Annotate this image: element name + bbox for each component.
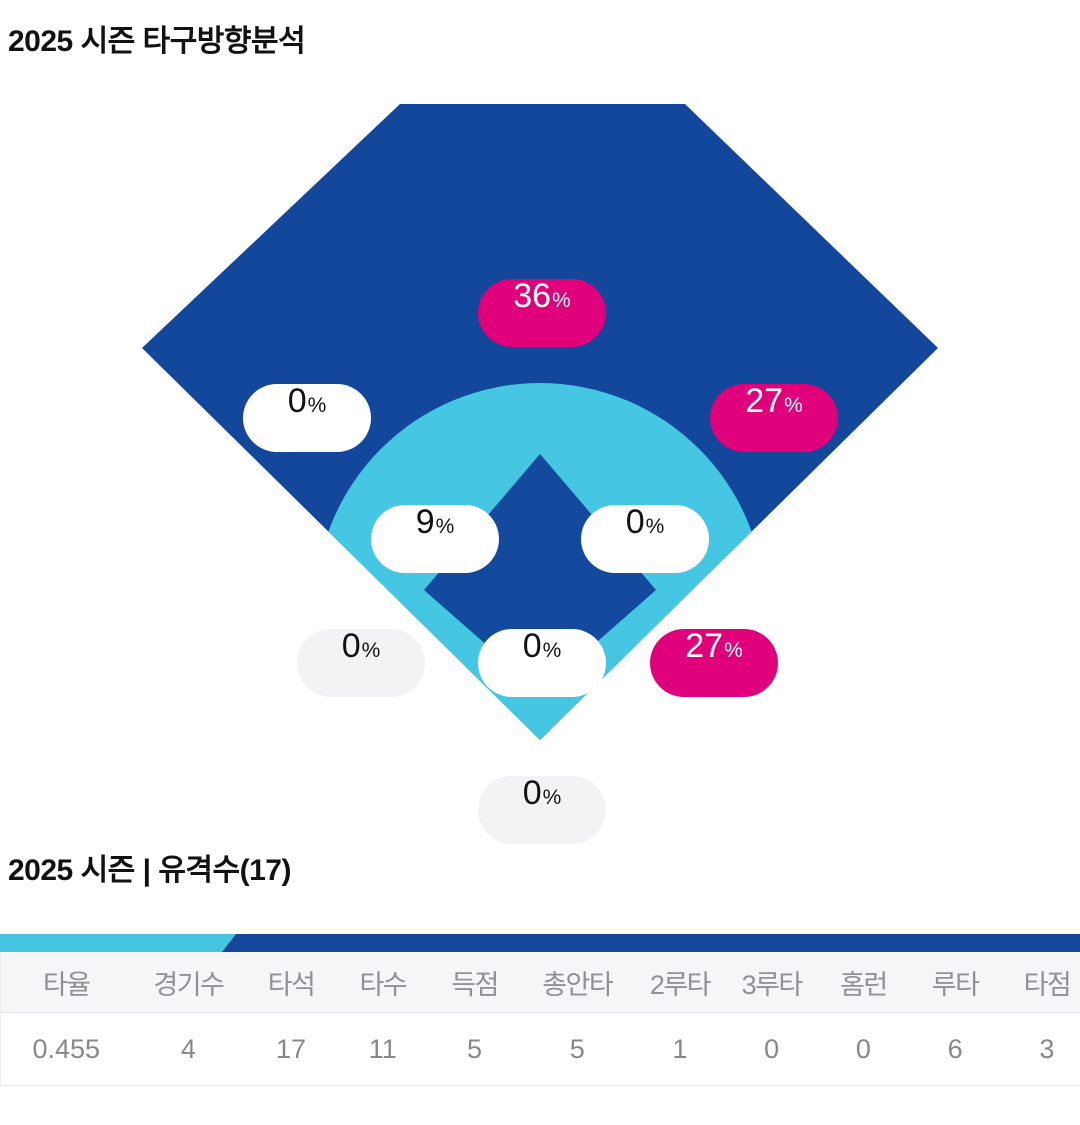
zone-value-right-field: 27 [745, 384, 783, 418]
zone-unit-left-infield: % [362, 640, 381, 661]
stats-cell: 4 [132, 1013, 246, 1086]
zone-badge-third-base[interactable]: 9% [371, 505, 499, 573]
stats-cell: 0 [818, 1013, 910, 1086]
page-title: 2025 시즌 타구방향분석 [8, 16, 305, 60]
stats-cell: 6 [909, 1013, 1001, 1086]
stats-cell: 0 [726, 1013, 818, 1086]
stats-header-cell[interactable]: 타석 [245, 952, 337, 1013]
stats-header-cell[interactable]: 2루타 [634, 952, 726, 1013]
zone-unit-left-field: % [308, 395, 327, 416]
stats-header-cell[interactable]: 루타 [909, 952, 1001, 1013]
zone-unit-right-field: % [784, 395, 803, 416]
zone-value-first-base: 27 [685, 629, 723, 663]
stats-header-cell[interactable]: 경기수 [132, 952, 246, 1013]
section-title: 2025 시즌 | 유격수(17) [8, 845, 291, 889]
stats-header-cell[interactable]: 총안타 [520, 952, 634, 1013]
zone-badge-first-base[interactable]: 27% [650, 629, 778, 697]
zone-unit-shortstop: % [646, 516, 665, 537]
stats-cell: 3 [1001, 1013, 1080, 1086]
accent-bar [0, 934, 1080, 952]
zone-badge-home-plate[interactable]: 0% [478, 776, 606, 844]
zone-value-left-infield: 0 [342, 629, 361, 663]
zone-badge-left-field[interactable]: 0% [243, 384, 371, 452]
zone-unit-home-plate: % [543, 787, 562, 808]
zone-value-third-base: 9 [416, 505, 435, 539]
stats-header-cell[interactable]: 득점 [429, 952, 521, 1013]
accent-bar-navy [222, 934, 1080, 952]
zone-unit-third-base: % [436, 516, 455, 537]
stats-cell: 0.455 [1, 1013, 132, 1086]
zone-badge-shortstop[interactable]: 0% [581, 505, 709, 573]
stats-header-cell[interactable]: 홈런 [818, 952, 910, 1013]
zone-value-left-field: 0 [288, 384, 307, 418]
stats-cell: 11 [337, 1013, 429, 1086]
zone-value-home-plate: 0 [523, 776, 542, 810]
stats-cell: 5 [520, 1013, 634, 1086]
zone-value-shortstop: 0 [626, 505, 645, 539]
zone-unit-first-base: % [724, 640, 743, 661]
zone-badge-center-field[interactable]: 36% [478, 279, 606, 347]
zone-value-second-base: 0 [523, 629, 542, 663]
stats-header-row: 타율 경기수 타석 타수 득점 총안타 2루타 3루타 홈런 루타 타점 도루 … [1, 952, 1080, 1013]
stats-cell: 5 [429, 1013, 521, 1086]
zone-unit-center-field: % [552, 290, 571, 311]
zone-badge-second-base[interactable]: 0% [478, 629, 606, 697]
accent-bar-cyan [0, 934, 236, 952]
zone-unit-second-base: % [543, 640, 562, 661]
spray-chart: 36% 0% 27% 9% 0% 0% 0% 27% 0% [0, 80, 1080, 800]
stats-section: 타율 경기수 타석 타수 득점 총안타 2루타 3루타 홈런 루타 타점 도루 … [0, 934, 1080, 1086]
stats-header-cell[interactable]: 타율 [1, 952, 132, 1013]
stats-data-row: 0.455 4 17 11 5 5 1 0 0 6 3 2 0 0 6 [1, 1013, 1080, 1086]
stats-header-cell[interactable]: 3루타 [726, 952, 818, 1013]
stats-header-cell[interactable]: 타수 [337, 952, 429, 1013]
stats-table-scroll[interactable]: 타율 경기수 타석 타수 득점 총안타 2루타 3루타 홈런 루타 타점 도루 … [0, 952, 1080, 1086]
stats-cell: 17 [245, 1013, 337, 1086]
stats-header-cell[interactable]: 타점 [1001, 952, 1080, 1013]
stats-cell: 1 [634, 1013, 726, 1086]
zone-badge-left-infield[interactable]: 0% [297, 629, 425, 697]
zone-badge-right-field[interactable]: 27% [710, 384, 838, 452]
zone-value-center-field: 36 [513, 279, 551, 313]
stats-table: 타율 경기수 타석 타수 득점 총안타 2루타 3루타 홈런 루타 타점 도루 … [0, 952, 1080, 1086]
